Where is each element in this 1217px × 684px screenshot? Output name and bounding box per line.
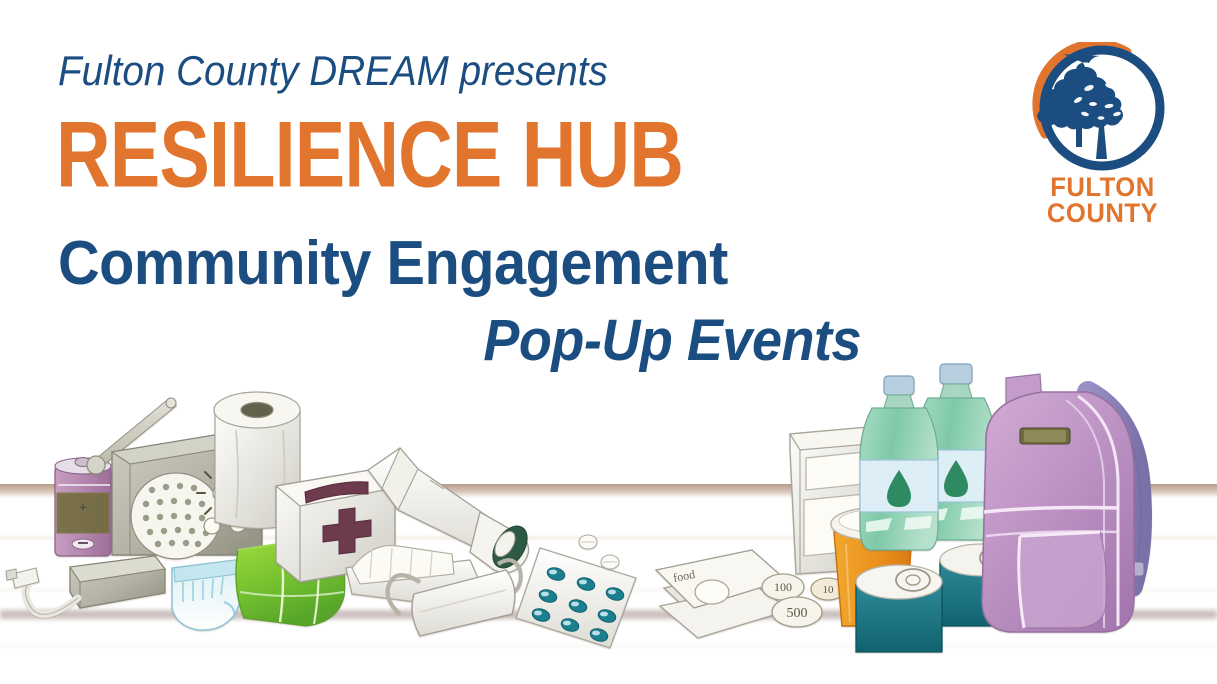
coin-label-500: 500 <box>787 606 808 621</box>
fulton-county-logo: FULTON COUNTY <box>1031 42 1174 222</box>
socks <box>172 560 242 630</box>
kicker-text: Fulton County DREAM presents <box>58 47 608 95</box>
poster-canvas: + <box>0 0 1217 684</box>
fulton-county-seal-mark <box>1031 42 1174 176</box>
coin-label-100: 100 <box>774 580 792 594</box>
water-bottles <box>860 364 996 550</box>
coin-label-10: 10 <box>823 584 835 596</box>
power-bank-with-cable <box>6 556 165 614</box>
backpack <box>982 374 1144 632</box>
supplies-illustration: + <box>0 330 1217 684</box>
logo-wordmark-line2: COUNTY <box>1035 200 1171 226</box>
logo-wordmark-line1: FULTON <box>1035 174 1171 200</box>
page-title: RESILIENCE HUB <box>56 108 683 201</box>
subtitle-line-1: Community Engagement <box>58 233 728 295</box>
battery-cell: + <box>55 458 111 557</box>
logo-wordmark: FULTON COUNTY <box>1035 174 1171 226</box>
subtitle-line-2: Pop-Up Events <box>483 312 861 370</box>
svg-text:+: + <box>79 500 87 516</box>
